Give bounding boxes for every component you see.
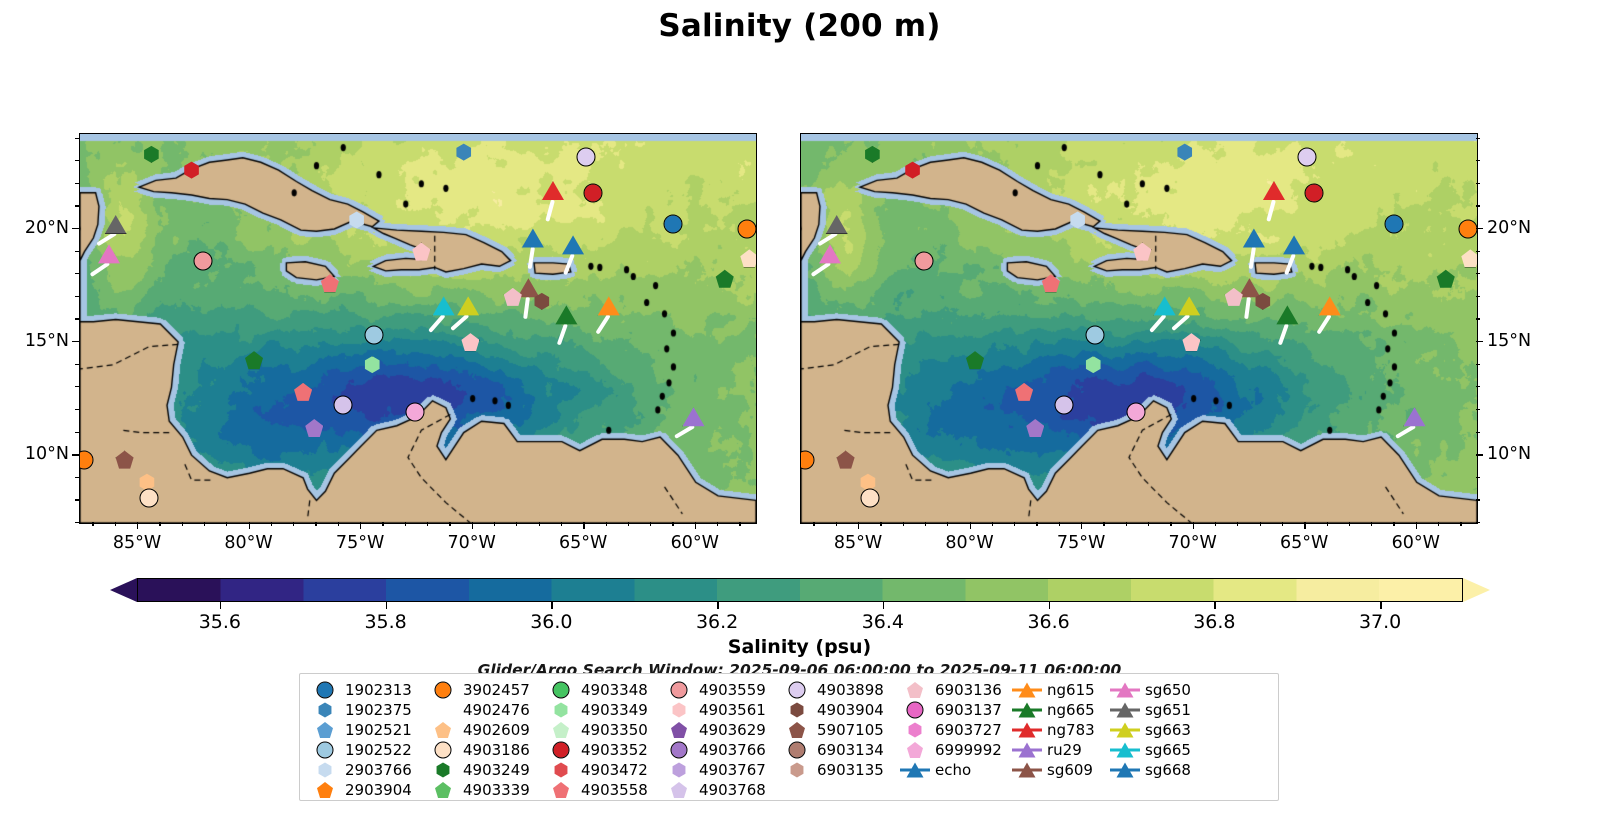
triangle-icon [1154,296,1176,315]
x-axis-tick [561,522,562,526]
legend-marker [428,740,458,760]
colorbar-tick [1214,602,1215,609]
legend-item-sg651[interactable]: sg651 [1110,700,1202,720]
map-marker-4903558[interactable] [1042,274,1060,292]
legend-marker [900,680,930,700]
map-marker-sg650[interactable] [819,244,841,263]
x-axis-tick-label: 85°W [113,533,161,553]
legend-column: 4903348490334949033504903352490347249035… [546,680,664,796]
pentagon-icon [553,782,569,798]
pentagon-icon [1182,333,1200,351]
legend-item-4903352[interactable]: 4903352 [546,740,664,760]
legend-item-sg668[interactable]: sg668 [1110,760,1202,780]
y-axis-tick [75,522,79,523]
map-marker-ru29[interactable] [683,407,705,426]
map-marker-ng665[interactable] [555,305,577,324]
legend-marker [1110,760,1140,780]
map-marker-4903249[interactable] [245,351,263,369]
map-marker-4903559[interactable] [194,252,211,269]
x-axis-tick [1393,522,1394,526]
legend-marker [782,740,812,760]
map-marker-4903766[interactable] [305,419,323,437]
hexagon-icon [904,162,921,179]
legend-item-6903134[interactable]: 6903134 [782,740,900,760]
circle-icon [1460,220,1477,237]
legend-item-4903186[interactable]: 4903186 [428,740,546,760]
pentagon-icon [1461,249,1478,267]
legend-item-1902522[interactable]: 1902522 [310,740,428,760]
map-marker-sg651[interactable] [105,215,127,234]
circle-icon [585,184,602,201]
map-marker-sg668[interactable] [1243,229,1265,248]
map-marker-sg668[interactable] [522,229,544,248]
legend-item-empty [1012,780,1110,800]
map-marker-4903186[interactable] [740,249,757,267]
y-axis-tick [75,251,79,252]
y-axis-tick [1476,273,1480,274]
map-marker-4903249[interactable] [864,146,881,163]
legend-label: 4903768 [699,781,766,799]
legend-marker [1012,700,1042,720]
map-marker-4903249[interactable] [716,270,734,288]
legend-item-ng615[interactable]: ng615 [1012,680,1110,700]
circle-icon [1299,148,1316,165]
hexagon-icon [859,474,876,491]
y-axis-tick [1476,160,1480,161]
y-axis-tick [75,318,79,319]
legend-item-4903249[interactable]: 4903249 [428,760,546,780]
y-axis-tick-label: 20°N [1487,218,1531,238]
map-marker-sg665[interactable] [1154,296,1176,315]
hexagon-icon [672,703,687,718]
map-marker-2903766[interactable] [348,211,365,228]
colorbar-tick-label: 37.0 [1359,611,1401,633]
colorbar-label: Salinity (psu) [0,636,1599,658]
circle-icon [79,451,93,468]
y-axis-tick [1476,296,1480,297]
map-marker-ng783[interactable] [542,181,564,200]
legend-marker [1012,760,1042,780]
map-marker-4903249[interactable] [1437,270,1455,288]
y-axis-tick [75,138,79,139]
map-marker-4903186[interactable] [862,490,879,507]
salinity-field-cmems [801,134,1477,523]
legend-marker [1012,740,1042,760]
hexagon-icon [143,146,160,163]
x-axis-tick [1103,522,1104,526]
map-marker-4903898[interactable] [1299,148,1316,165]
x-axis-tick [606,522,607,526]
map-marker-4903558[interactable] [1015,383,1033,401]
circle-icon [141,490,158,507]
pentagon-icon [907,742,923,758]
map-marker-2903766[interactable] [1069,211,1086,228]
triangle-icon [555,305,577,324]
legend-label: 4903904 [817,701,884,719]
legend-label: 6903727 [935,721,1002,739]
map-marker-4903349[interactable] [364,356,381,373]
circle-icon [436,743,451,758]
legend-column: 1902313190237519025211902522290376629039… [310,680,428,796]
legend-item-6903136[interactable]: 6903136 [900,680,1012,700]
pentagon-icon [321,274,339,292]
colorbar-tick [386,602,387,609]
legend-label: 4903472 [581,761,648,779]
map-marker-6999992[interactable] [1127,404,1144,421]
legend-label: 4903249 [463,761,530,779]
circle-icon [1056,397,1073,414]
map-marker-ng615[interactable] [1319,296,1341,315]
map-marker-4902609[interactable] [138,474,155,491]
map-marker-3902457[interactable] [739,220,756,237]
x-axis-tick-label: 65°W [559,533,607,553]
circle-icon [790,683,805,698]
pentagon-icon [245,351,263,369]
legend-marker [1110,720,1140,740]
x-axis-tick-label: 60°W [1392,533,1440,553]
legend-label: 1902522 [345,741,412,759]
y-axis-tick [75,183,79,184]
map-marker-3902457[interactable] [800,451,814,468]
x-axis-tick-label: 85°W [834,533,882,553]
legend-label: 4902609 [463,721,530,739]
legend-item-6999992[interactable]: 6999992 [900,740,1012,760]
map-marker-4903349[interactable] [1085,356,1102,373]
y-axis-tick [72,228,79,229]
y-axis-tick [75,432,79,433]
legend-item-4903472[interactable]: 4903472 [546,760,664,780]
legend-label: 1902375 [345,701,412,719]
x-axis-tick [1215,522,1216,526]
legend-marker [900,740,930,760]
legend-marker [310,680,340,700]
map-marker-4903249[interactable] [143,146,160,163]
map-marker-4903352[interactable] [183,162,200,179]
legend-item-6903727[interactable]: 6903727 [900,720,1012,740]
pentagon-icon [116,451,134,469]
legend-item-4902609[interactable]: 4902609 [428,720,546,740]
x-axis-tick [1327,522,1328,526]
legend-marker [664,700,694,720]
circle-icon [578,148,595,165]
x-axis-tick-label: 80°W [224,533,272,553]
legend-item-4903768[interactable]: 4903768 [664,780,782,800]
x-axis-tick [836,522,837,526]
legend-item-4902476[interactable]: 4902476 [428,700,546,720]
map-marker-1902522[interactable] [366,327,383,344]
map-marker-echo[interactable] [562,235,584,254]
colorbar-tick [551,602,552,609]
legend-item-6903135[interactable]: 6903135 [782,760,900,780]
map-marker-sg651[interactable] [826,215,848,234]
map-marker-1902313[interactable] [665,216,682,233]
y-axis-tick [1476,228,1483,229]
legend-label: 4903766 [699,741,766,759]
x-axis-tick-label: 80°W [945,533,993,553]
legend-item-echo[interactable]: echo [900,760,1012,780]
x-axis-tick-label: 70°W [447,533,495,553]
legend-item-empty [900,780,1012,800]
y-axis-tick [1476,341,1483,342]
circle-icon [436,683,451,698]
map-marker-1902375[interactable] [455,144,472,161]
legend-label: ru29 [1047,741,1082,759]
legend-item-sg663[interactable]: sg663 [1110,720,1202,740]
x-axis-tick [382,522,383,526]
y-axis-tick-label: 15°N [1,331,69,351]
colorbar-tick-label: 36.6 [1027,611,1069,633]
pentagon-icon [789,722,805,738]
y-axis-tick [1476,386,1480,387]
legend-marker [782,780,812,800]
triangle-icon [433,296,455,315]
hexagon-icon [1085,356,1102,373]
x-axis-tick [293,522,294,526]
map-marker-4903904[interactable] [533,293,550,310]
map-marker-4903249[interactable] [966,351,984,369]
map-marker-1902522[interactable] [1087,327,1104,344]
x-axis-tick [338,522,339,526]
map-marker-4902609[interactable] [859,474,876,491]
colorbar-tick [1049,602,1050,609]
legend-item-4903348[interactable]: 4903348 [546,680,664,700]
map-marker-4903766[interactable] [1026,419,1044,437]
map-panel-rtofs[interactable]: RTOFS - 2025-09-11 06:00:00 [79,133,757,524]
legend-item-3902457[interactable]: 3902457 [428,680,546,700]
legend-marker [546,720,576,740]
legend-item-4903350[interactable]: 4903350 [546,720,664,740]
legend-item-1902375[interactable]: 1902375 [310,700,428,720]
x-axis-tick [583,522,584,529]
legend-marker [664,780,694,800]
circle-icon [1087,327,1104,344]
map-marker-5907105[interactable] [116,451,134,469]
pentagon-icon [504,288,522,306]
legend-marker [782,760,812,780]
legend-item-sg650[interactable]: sg650 [1110,680,1202,700]
hexagon-icon [183,162,200,179]
hexagon-icon [790,763,805,778]
legend-label: 4903558 [581,781,648,799]
legend-item-sg609[interactable]: sg609 [1012,760,1110,780]
map-marker-4903768[interactable] [335,397,352,414]
map-marker-sg650[interactable] [98,244,120,263]
legend-label: 4903349 [581,701,648,719]
map-marker-4903904[interactable] [1254,293,1271,310]
legend-label: sg665 [1145,741,1191,759]
legend-item-4903766[interactable]: 4903766 [664,740,782,760]
x-axis-tick [1460,522,1461,526]
pentagon-icon [1015,383,1033,401]
pentagon-icon [553,722,569,738]
map-marker-4903558[interactable] [321,274,339,292]
map-marker-ng783[interactable] [1263,181,1285,200]
x-axis-tick [672,522,673,526]
colorbar-tick [883,602,884,609]
map-marker-3902457[interactable] [79,451,93,468]
map-marker-sg665[interactable] [433,296,455,315]
x-axis-tick [1081,522,1082,529]
legend-item-4903767[interactable]: 4903767 [664,760,782,780]
x-axis-tick [1371,522,1372,526]
legend-item-4903339[interactable]: 4903339 [428,780,546,800]
map-marker-4903558[interactable] [294,383,312,401]
x-axis-tick [1170,522,1171,526]
hexagon-icon [455,144,472,161]
legend-item-ng783[interactable]: ng783 [1012,720,1110,740]
legend-item-4903558[interactable]: 4903558 [546,780,664,800]
legend-marker [310,700,340,720]
legend-item-empty [782,780,900,800]
legend-item-4903561[interactable]: 4903561 [664,700,782,720]
map-marker-echo[interactable] [1283,235,1305,254]
pentagon-icon [740,249,757,267]
hexagon-icon [364,356,381,373]
legend-marker [900,700,930,720]
x-axis-tick [992,522,993,526]
legend-item-6903137[interactable]: 6903137 [900,700,1012,720]
legend-item-4903559[interactable]: 4903559 [664,680,782,700]
colorbar-tick-label: 36.0 [530,611,572,633]
colorbar-tick [1380,602,1381,609]
legend-label: echo [935,761,971,779]
legend-item-2903766[interactable]: 2903766 [310,760,428,780]
triangle-icon [1178,296,1200,315]
legend-column: ng615ng665ng783ru29sg609 [1012,680,1110,796]
legend-item-4903349[interactable]: 4903349 [546,700,664,720]
y-axis-tick [1476,409,1480,410]
legend-column: 4903559490356149036294903766490376749037… [664,680,782,796]
legend-item-4903898[interactable]: 4903898 [782,680,900,700]
legend-marker [1110,780,1140,800]
map-marker-4903352[interactable] [585,184,602,201]
y-axis-tick [75,205,79,206]
map-marker-4903898[interactable] [578,148,595,165]
legend-label: 4903898 [817,681,884,699]
hexagon-icon [533,293,550,310]
map-marker-4903186[interactable] [141,490,158,507]
legend-item-4903904[interactable]: 4903904 [782,700,900,720]
x-axis-tick [1126,522,1127,526]
triangle-icon [683,407,705,426]
y-axis-tick [1476,318,1480,319]
map-marker-4903352[interactable] [904,162,921,179]
map-marker-4903561[interactable] [1182,333,1200,351]
legend-item-5907105[interactable]: 5907105 [782,720,900,740]
map-marker-6999992[interactable] [406,404,423,421]
circle-icon [1306,184,1323,201]
legend-label: 1902521 [345,721,412,739]
legend-marker [782,700,812,720]
legend-item-ru29[interactable]: ru29 [1012,740,1110,760]
circle-icon [908,703,923,718]
x-axis-tick [880,522,881,526]
map-marker-4903561[interactable] [461,333,479,351]
legend-marker [310,780,340,800]
legend-label: 4902476 [463,701,530,719]
legend-item-sg665[interactable]: sg665 [1110,740,1202,760]
legend-marker [782,720,812,740]
x-axis-tick [159,522,160,526]
pentagon-icon [1026,419,1044,437]
y-axis-tick-label: 10°N [1487,444,1531,464]
hexagon-icon [318,703,333,718]
map-marker-4903186[interactable] [1461,249,1478,267]
legend-column: 6903136690313769037276999992echo [900,680,1012,796]
legend-marker [664,680,694,700]
legend-item-empty [1110,780,1202,800]
legend-marker [428,720,458,740]
map-marker-3902457[interactable] [1460,220,1477,237]
x-axis-tick [1014,522,1015,526]
map-marker-sg663[interactable] [457,296,479,315]
legend-item-4903629[interactable]: 4903629 [664,720,782,740]
map-marker-6903136[interactable] [1225,288,1243,306]
circle-icon [1386,216,1403,233]
map-marker-ru29[interactable] [1404,407,1426,426]
map-marker-4903561[interactable] [412,243,430,261]
legend-item-ng665[interactable]: ng665 [1012,700,1110,720]
y-axis-tick [1476,205,1480,206]
map-marker-1902375[interactable] [1176,144,1193,161]
legend-marker [310,740,340,760]
triangle-icon [598,296,620,315]
legend-marker [546,700,576,720]
x-axis-tick-label: 75°W [336,533,384,553]
legend-item-1902313[interactable]: 1902313 [310,680,428,700]
hexagon-icon [348,211,365,228]
circle-icon [1127,404,1144,421]
circle-icon [800,451,814,468]
platform-legend[interactable]: 1902313190237519025211902522290376629039… [299,673,1279,801]
legend-marker [310,760,340,780]
map-marker-4903352[interactable] [1306,184,1323,201]
map-panel-cmems[interactable]: CMEMS - 2025-09-11 06:00:00 [800,133,1478,524]
x-axis-tick [1349,522,1350,526]
legend-item-1902521[interactable]: 1902521 [310,720,428,740]
x-axis-tick [115,522,116,526]
legend-item-2903904[interactable]: 2903904 [310,780,428,800]
map-marker-5907105[interactable] [837,451,855,469]
map-marker-ng615[interactable] [598,296,620,315]
hexagon-icon [864,146,881,163]
map-marker-1902313[interactable] [1386,216,1403,233]
circle-icon [790,743,805,758]
pentagon-icon [966,351,984,369]
pentagon-icon [1225,288,1243,306]
legend-marker [1110,700,1140,720]
map-marker-4903768[interactable] [1056,397,1073,414]
map-marker-4903559[interactable] [915,252,932,269]
triangle-icon [98,244,120,263]
pentagon-icon [671,782,687,798]
x-axis-tick [226,522,227,526]
pentagon-icon [435,722,451,738]
legend-marker [900,720,930,740]
circle-icon [665,216,682,233]
legend-marker [428,760,458,780]
map-marker-4903561[interactable] [1133,243,1151,261]
circle-icon [672,743,687,758]
y-axis-tick [75,386,79,387]
map-marker-ng665[interactable] [1276,305,1298,324]
colorbar-tick-label: 36.2 [696,611,738,633]
y-axis-tick [1476,432,1480,433]
hexagon-icon [908,723,923,738]
map-marker-6903136[interactable] [504,288,522,306]
map-marker-sg663[interactable] [1178,296,1200,315]
legend-label: 2903904 [345,781,412,799]
